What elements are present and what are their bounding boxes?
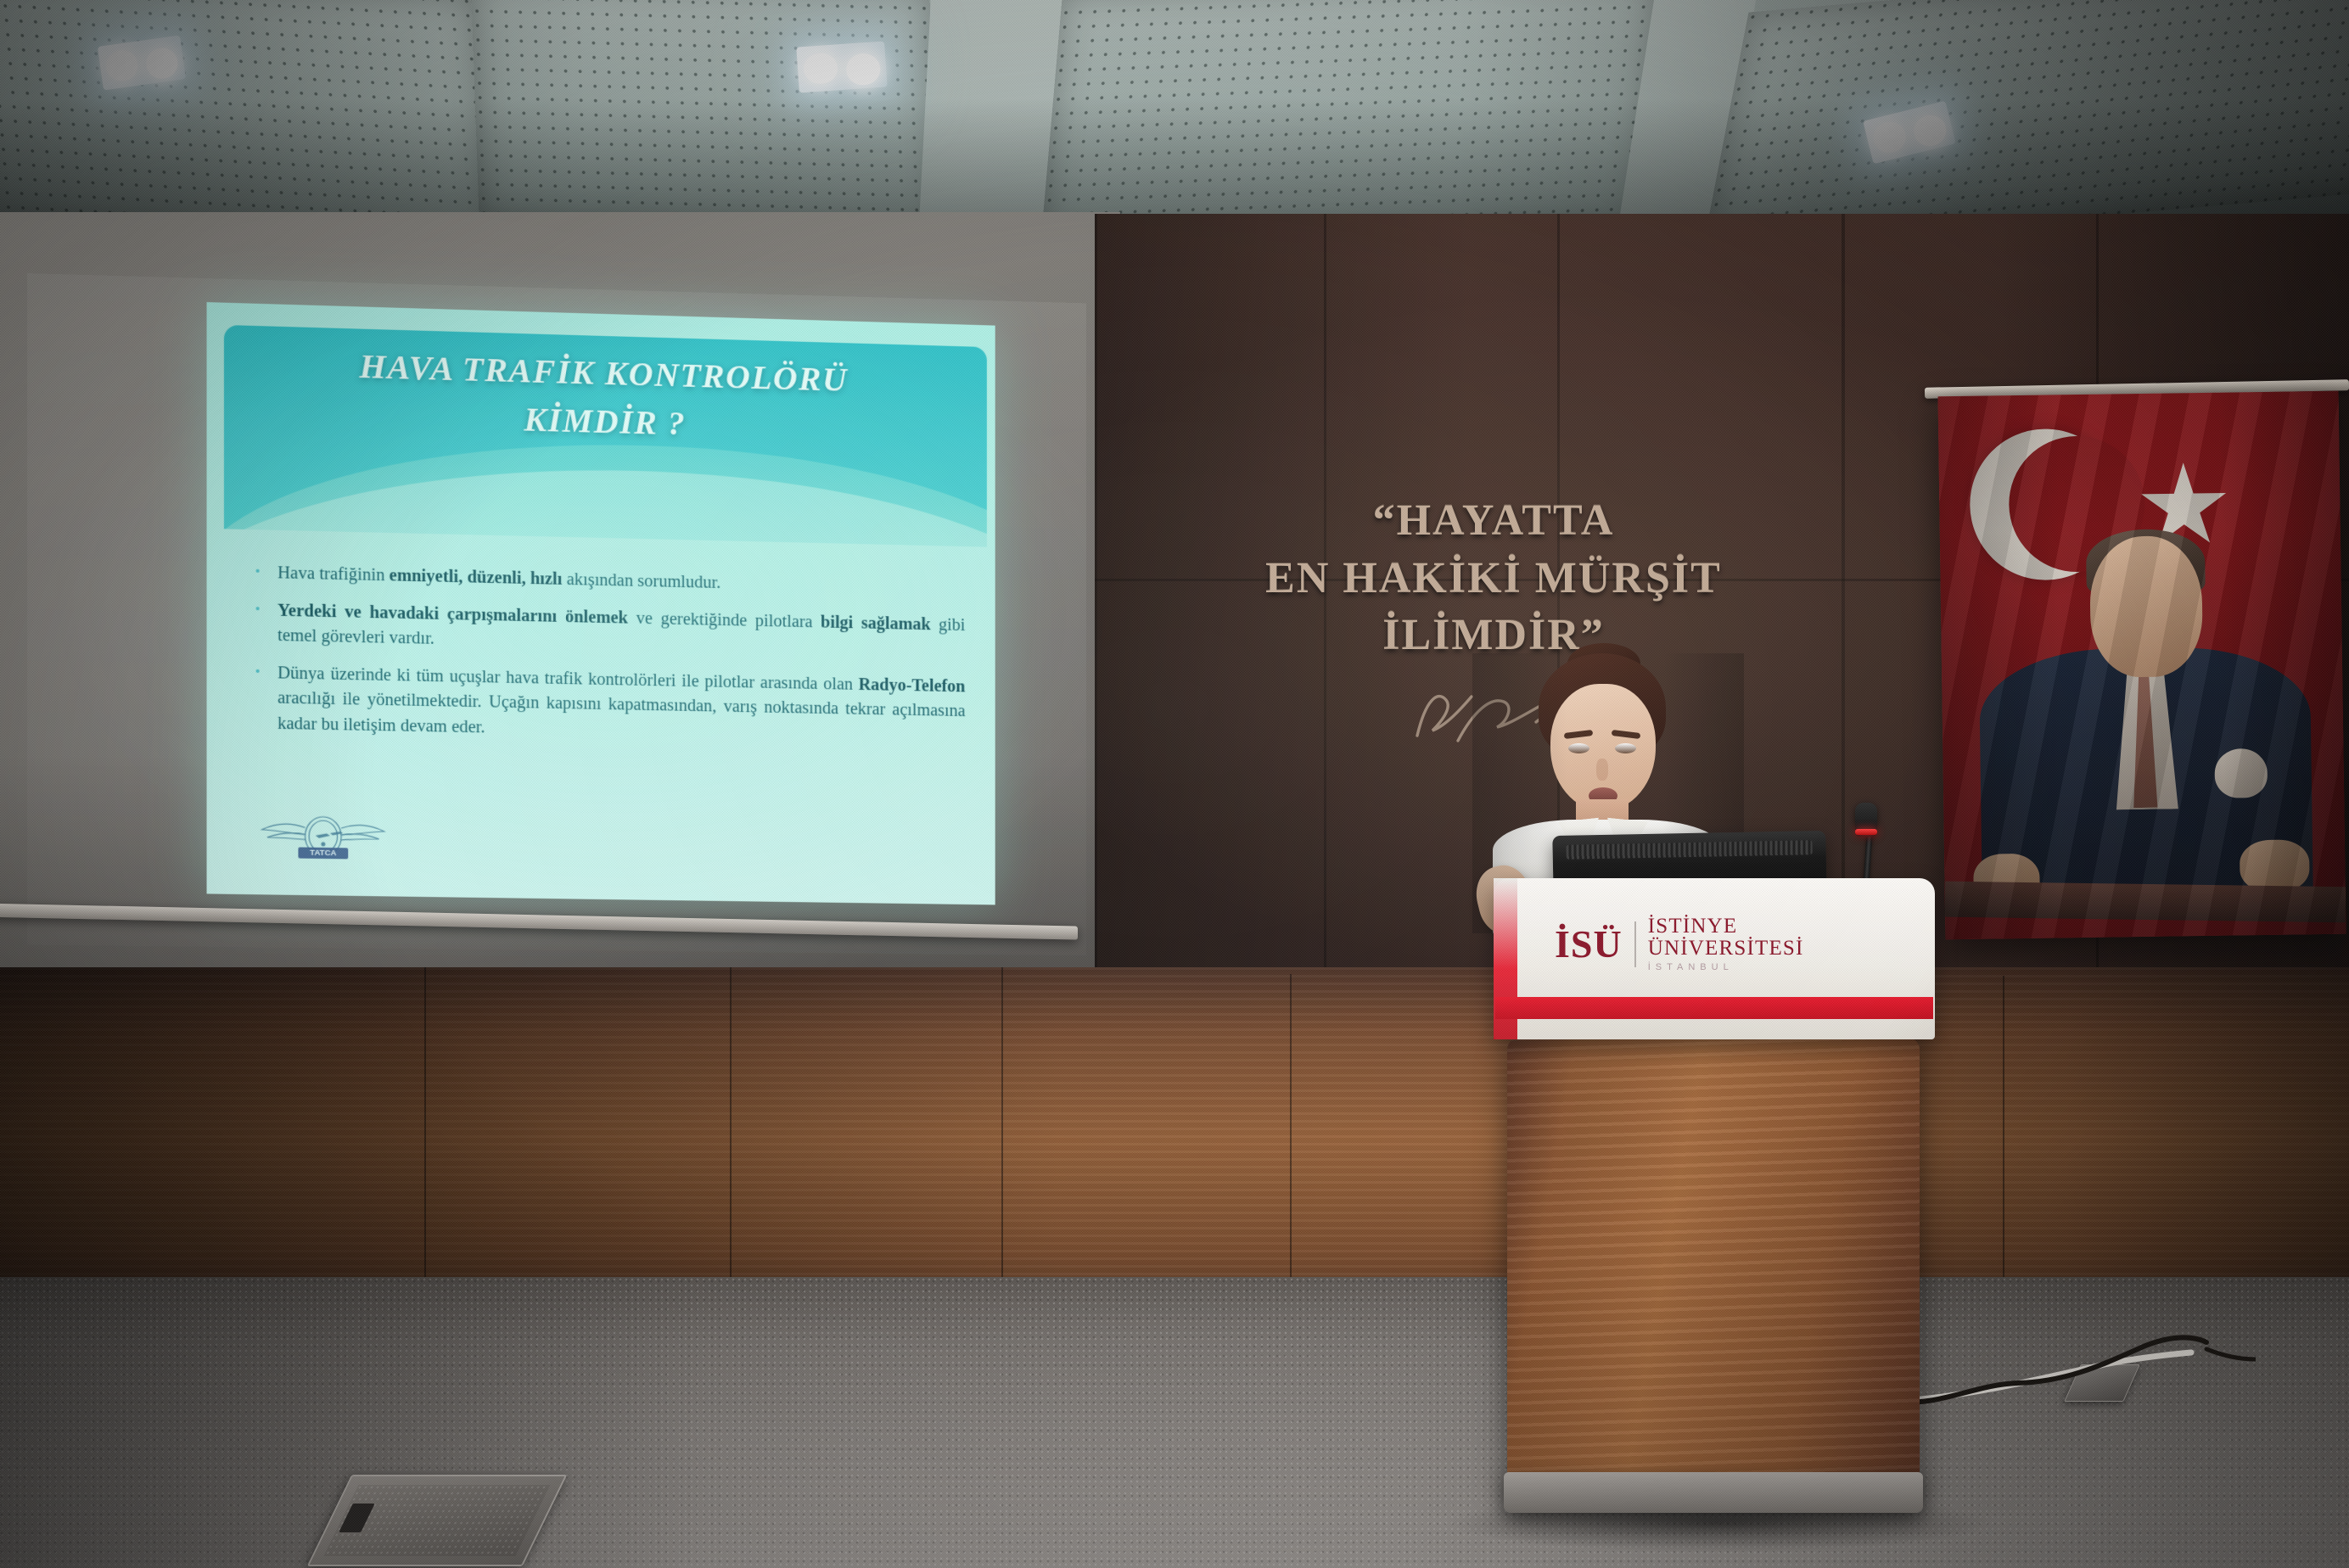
- banner-shading: [1938, 391, 2346, 940]
- bullet-marker-icon: •: [255, 661, 278, 736]
- isu-logo-divider: [1634, 921, 1636, 967]
- slide-bullet: •Dünya üzerinde ki tüm uçuşlar hava traf…: [255, 661, 966, 748]
- slide-bullet: •Yerdeki ve havadaki çarpışmalarını önle…: [255, 598, 966, 663]
- microphone-status-ring: [1855, 829, 1877, 835]
- conference-hall-photo: “HAYATTA EN HAKİKİ MÜRŞİT İLİMDİR”: [0, 0, 2349, 1568]
- tatca-logo-icon: TATCA: [259, 812, 388, 867]
- wall-quote: “HAYATTA EN HAKİKİ MÜRŞİT İLİMDİR”: [1214, 492, 1774, 664]
- podium-wood-grain: [1507, 1038, 1920, 1496]
- presenter-nose: [1596, 759, 1608, 781]
- monitor-vent-grille: [1566, 840, 1812, 860]
- tatca-logo-text: TATCA: [310, 848, 336, 859]
- ceiling: [0, 0, 2349, 246]
- isu-logo-wordmark: İSTİNYE ÜNİVERSİTESİ İSTANBUL: [1648, 916, 1804, 972]
- podium-red-stripe: [1495, 997, 1933, 1019]
- power-cable-black: [1891, 1324, 2256, 1425]
- isu-logo-line-1: İSTİNYE: [1648, 916, 1804, 938]
- isu-logo-line-2: ÜNİVERSİTESİ: [1648, 938, 1804, 960]
- lower-wall-shading: [0, 967, 2349, 1324]
- slide-bullet-text: Yerdeki ve havadaki çarpışmalarını önlem…: [278, 599, 965, 663]
- isu-logo-line-3: İSTANBUL: [1648, 963, 1804, 973]
- slide-bullet-list: •Hava trafiğinin emniyetli, düzenli, hız…: [255, 561, 966, 762]
- presentation-slide: HAVA TRAFİK KONTROLÖRÜ KİMDİR ? •Hava tr…: [207, 302, 995, 904]
- lectern-podium: İSÜ İSTİNYE ÜNİVERSİTESİ İSTANBUL: [1494, 878, 1935, 1523]
- slide-wave-shape-2: [224, 458, 987, 546]
- podium-metal-foot: [1504, 1472, 1923, 1513]
- presenter-eye-right: [1615, 743, 1636, 753]
- podium-front-panel: İSÜ İSTİNYE ÜNİVERSİTESİ İSTANBUL: [1494, 878, 1935, 1039]
- slide-bullet-text: Dünya üzerinde ki tüm uçuşlar hava trafi…: [278, 662, 965, 749]
- wall-quote-line-2: EN HAKİKİ MÜRŞİT: [1214, 550, 1774, 608]
- isu-logo: İSÜ İSTİNYE ÜNİVERSİTESİ İSTANBUL: [1555, 916, 1804, 972]
- ataturk-flag-banner: [1938, 391, 2346, 940]
- wall-quote-line-1: “HAYATTA: [1214, 492, 1774, 550]
- slide-bullet: •Hava trafiğinin emniyetli, düzenli, hız…: [255, 561, 966, 602]
- presenter-eye-left: [1568, 743, 1589, 753]
- isu-logo-mark: İSÜ: [1555, 925, 1623, 964]
- floor-outlet-box[interactable]: [307, 1475, 568, 1566]
- bullet-marker-icon: •: [255, 598, 278, 648]
- projection-screen: HAVA TRAFİK KONTROLÖRÜ KİMDİR ? •Hava tr…: [34, 288, 1095, 950]
- slide-bullet-text: Hava trafiğinin emniyetli, düzenli, hızl…: [278, 561, 965, 601]
- bullet-marker-icon: •: [255, 561, 278, 586]
